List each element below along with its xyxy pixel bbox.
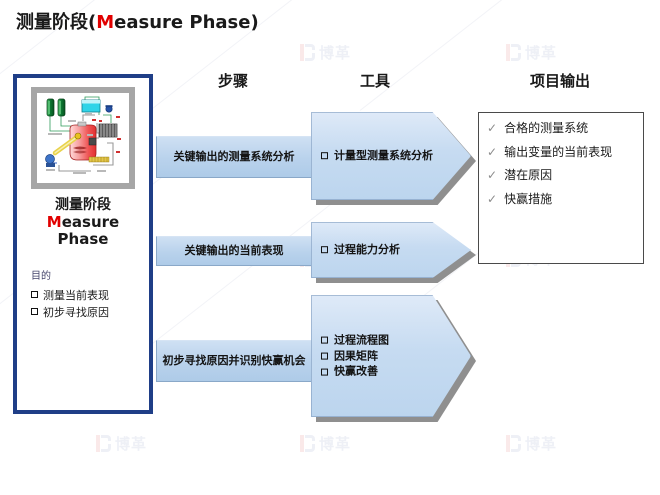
tool-item: 因果矩阵 <box>321 348 389 364</box>
slide-canvas: 博革 博革 博革 博革 博革 博革 博革 博革 <box>0 0 660 495</box>
output-item-label: 合格的测量系统 <box>504 121 588 137</box>
brand-watermark: 博革 <box>506 42 557 63</box>
brand-watermark: 博革 <box>96 433 147 454</box>
tool-arrow-2[interactable]: 过程能力分析 <box>311 222 471 278</box>
background-hairline <box>360 0 597 111</box>
brand-logo-icon <box>96 435 111 452</box>
check-icon: ✓ <box>487 121 497 136</box>
phase-title-initial: M <box>47 213 62 231</box>
page-title-initial: M <box>96 12 114 33</box>
tool-item-label: 因果矩阵 <box>334 348 378 364</box>
watermark-text: 博革 <box>319 433 351 454</box>
page-title-paren-close: ) <box>250 12 258 33</box>
phase-purpose-item: 初步寻找原因 <box>31 304 149 321</box>
phase-title-en-line2: Phase <box>17 231 149 249</box>
output-item: ✓ 快赢措施 <box>485 192 637 208</box>
phase-title-en-rest: easure <box>62 213 119 231</box>
checkbox-square-icon <box>321 368 328 375</box>
watermark-text: 博革 <box>115 433 147 454</box>
phase-title: 测量阶段 Measure Phase <box>17 197 149 249</box>
brand-watermark: 博革 <box>300 433 351 454</box>
phase-title-en-line1: Measure <box>17 214 149 232</box>
brand-logo-icon <box>506 44 521 61</box>
tool-item: 过程流程图 <box>321 333 389 349</box>
page-title-en: easure Phase <box>114 12 250 33</box>
brand-watermark: 博革 <box>300 42 351 63</box>
checkbox-square-icon <box>31 291 38 298</box>
output-item-label: 潜在原因 <box>504 168 552 184</box>
tool-item-label: 过程流程图 <box>334 333 389 349</box>
process-plant-diagram-icon <box>37 93 129 183</box>
page-title-paren-open: ( <box>88 12 96 33</box>
phase-purpose-item-label: 初步寻找原因 <box>43 304 109 321</box>
step-box-2[interactable]: 关键输出的当前表现 <box>156 236 312 266</box>
tool-item-label: 过程能力分析 <box>334 242 400 258</box>
phase-purpose-label: 目的 <box>31 269 149 285</box>
tool-item-label: 计量型测量系统分析 <box>334 148 433 164</box>
tool-item-label: 快赢改善 <box>334 364 378 380</box>
tool-arrow-items: 过程能力分析 <box>321 242 400 258</box>
page-title-cn: 测量阶段 <box>16 12 88 33</box>
tool-item: 过程能力分析 <box>321 242 400 258</box>
output-item: ✓ 合格的测量系统 <box>485 121 637 137</box>
column-header-steps: 步骤 <box>178 70 288 91</box>
phase-image-frame <box>31 87 135 189</box>
output-item: ✓ 潜在原因 <box>485 168 637 184</box>
check-icon: ✓ <box>487 168 497 183</box>
output-item: ✓ 输出变量的当前表现 <box>485 145 637 161</box>
check-icon: ✓ <box>487 145 497 160</box>
checkbox-square-icon <box>321 246 328 253</box>
output-item-label: 输出变量的当前表现 <box>504 145 612 161</box>
check-icon: ✓ <box>487 192 497 207</box>
step-box-1[interactable]: 关键输出的测量系统分析 <box>156 136 312 178</box>
tool-item: 计量型测量系统分析 <box>321 148 433 164</box>
step-box-3[interactable]: 初步寻找原因并识别快赢机会 <box>156 340 312 382</box>
watermark-text: 博革 <box>525 433 557 454</box>
checkbox-square-icon <box>321 352 328 359</box>
output-box: ✓ 合格的测量系统 ✓ 输出变量的当前表现 ✓ 潜在原因 ✓ 快赢措施 <box>478 112 644 264</box>
tool-arrow-1[interactable]: 计量型测量系统分析 <box>311 112 471 200</box>
brand-logo-icon <box>506 435 521 452</box>
phase-panel: 测量阶段 Measure Phase 目的 测量当前表现 初步寻找原因 <box>13 74 153 414</box>
tool-item: 快赢改善 <box>321 364 389 380</box>
checkbox-square-icon <box>321 337 328 344</box>
brand-logo-icon <box>300 435 315 452</box>
phase-title-cn: 测量阶段 <box>17 197 149 214</box>
page-title: 测量阶段(Measure Phase) <box>16 8 259 34</box>
column-header-tools: 工具 <box>320 70 430 91</box>
checkbox-square-icon <box>321 152 328 159</box>
phase-purpose-item-label: 测量当前表现 <box>43 287 109 304</box>
column-header-outputs: 项目输出 <box>475 70 645 91</box>
checkbox-square-icon <box>31 308 38 315</box>
phase-purpose-item: 测量当前表现 <box>31 287 149 304</box>
watermark-text: 博革 <box>319 42 351 63</box>
output-item-label: 快赢措施 <box>504 192 552 208</box>
tool-arrow-3[interactable]: 过程流程图 因果矩阵 快赢改善 <box>311 295 471 417</box>
phase-purpose-block: 目的 测量当前表现 初步寻找原因 <box>31 269 149 322</box>
tool-arrow-items: 过程流程图 因果矩阵 快赢改善 <box>321 333 389 380</box>
brand-logo-icon <box>300 44 315 61</box>
tool-arrow-items: 计量型测量系统分析 <box>321 148 433 164</box>
watermark-text: 博革 <box>525 42 557 63</box>
brand-watermark: 博革 <box>506 433 557 454</box>
